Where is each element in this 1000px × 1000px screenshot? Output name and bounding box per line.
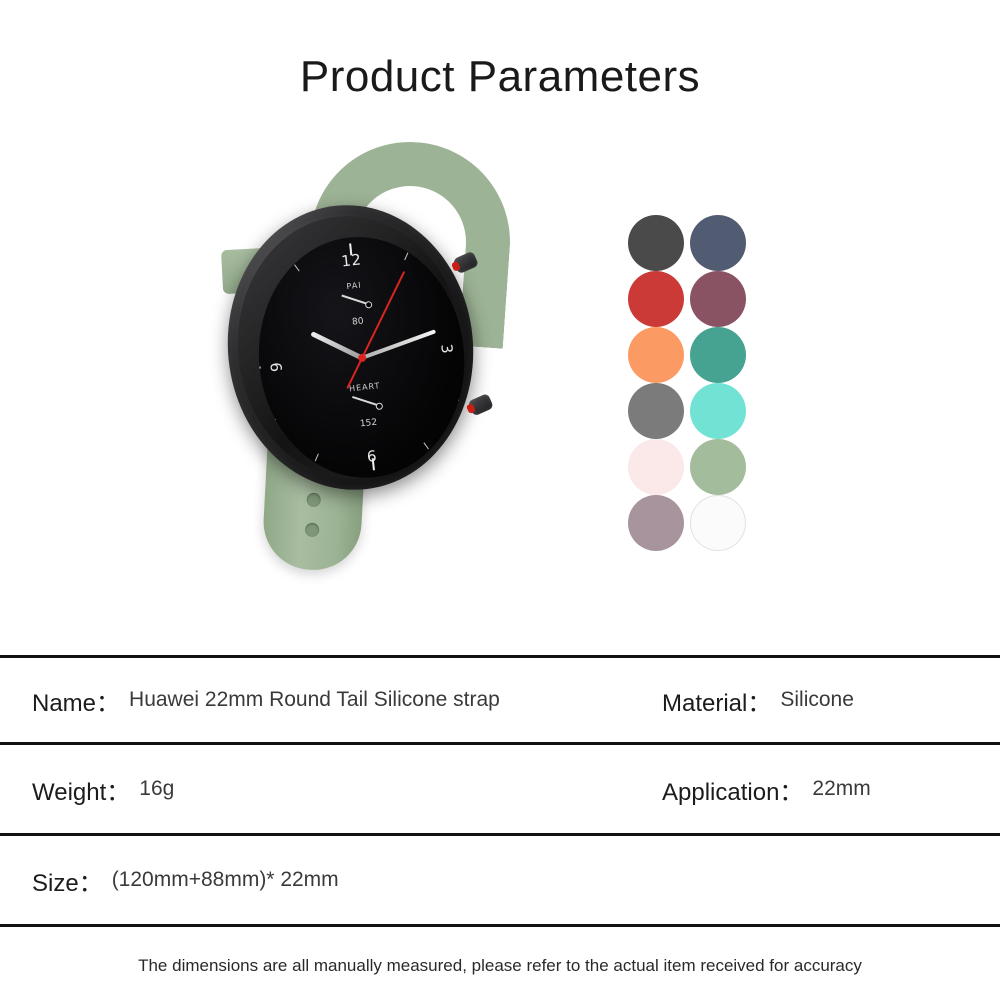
strap-hole bbox=[305, 523, 320, 538]
specification-table: Name： Huawei 22mm Round Tail Silicone st… bbox=[0, 655, 1000, 1000]
spec-value-weight: 16g bbox=[139, 777, 174, 801]
tick-mark bbox=[463, 344, 475, 347]
smartwatch: 12 3 6 9 PAI 80 HEART 152 bbox=[228, 205, 488, 495]
watch-numeral-3: 3 bbox=[437, 343, 456, 355]
color-swatch-orange[interactable] bbox=[628, 327, 684, 383]
tick-mark bbox=[249, 367, 261, 370]
spec-value-name: Huawei 22mm Round Tail Silicone strap bbox=[129, 688, 500, 712]
color-swatch-red[interactable] bbox=[628, 271, 684, 327]
table-row-weight-application: Weight： 16g Application： 22mm bbox=[0, 745, 1000, 833]
spec-value-application: 22mm bbox=[812, 777, 870, 801]
spec-cell-weight: Weight： 16g bbox=[0, 745, 630, 833]
crown-red-accent bbox=[466, 403, 476, 414]
tick-mark bbox=[269, 419, 276, 425]
color-swatch-pale-pink[interactable] bbox=[628, 439, 684, 495]
spec-label-material: Material： bbox=[662, 683, 771, 718]
watch-numeral-12: 12 bbox=[340, 250, 362, 270]
watch-numeral-9: 9 bbox=[267, 360, 286, 372]
product-parameters-page: Product Parameters bbox=[0, 0, 1000, 1000]
page-title: Product Parameters bbox=[0, 52, 1000, 102]
color-swatch-navy-slate[interactable] bbox=[690, 215, 746, 271]
color-swatch-aqua[interactable] bbox=[690, 383, 746, 439]
product-hero-image: 12 3 6 9 PAI 80 HEART 152 bbox=[0, 120, 1000, 650]
color-swatch-gray[interactable] bbox=[628, 383, 684, 439]
watch-bezel: 12 3 6 9 PAI 80 HEART 152 bbox=[225, 205, 476, 490]
spec-label-weight: Weight： bbox=[32, 772, 130, 807]
watch-face: 12 3 6 9 PAI 80 HEART 152 bbox=[247, 227, 476, 488]
color-swatch-white[interactable] bbox=[690, 495, 746, 551]
table-row-name-material: Name： Huawei 22mm Round Tail Silicone st… bbox=[0, 658, 1000, 742]
color-swatch-sage-green[interactable] bbox=[690, 439, 746, 495]
crown-button-bottom bbox=[467, 393, 494, 417]
pai-subdial-hand bbox=[341, 295, 370, 306]
tick-mark bbox=[423, 442, 429, 449]
heart-subdial-label: HEART bbox=[349, 381, 381, 393]
pai-subdial-value: 80 bbox=[352, 317, 364, 328]
spec-label-name: Name： bbox=[32, 683, 120, 718]
heart-subdial-value: 152 bbox=[359, 418, 377, 430]
crown-button-top bbox=[452, 251, 479, 275]
watch-case: 12 3 6 9 PAI 80 HEART 152 bbox=[214, 193, 487, 502]
tick-mark bbox=[294, 264, 300, 271]
color-swatch-plum[interactable] bbox=[690, 271, 746, 327]
hands-center-cap bbox=[357, 353, 366, 362]
color-swatch-teal[interactable] bbox=[690, 327, 746, 383]
spec-value-size: (120mm+88mm)* 22mm bbox=[112, 868, 339, 892]
tick-mark bbox=[404, 253, 408, 261]
disclaimer-note: The dimensions are all manually measured… bbox=[0, 927, 1000, 1000]
table-row-size: Size： (120mm+88mm)* 22mm bbox=[0, 836, 1000, 924]
color-swatch-charcoal[interactable] bbox=[628, 215, 684, 271]
spec-label-size: Size： bbox=[32, 863, 103, 898]
spec-cell-application: Application： 22mm bbox=[630, 745, 1000, 833]
tick-mark bbox=[458, 400, 466, 404]
heart-subdial-hand bbox=[352, 396, 381, 407]
crown-red-accent bbox=[451, 261, 461, 272]
spec-cell-size: Size： (120mm+88mm)* 22mm bbox=[0, 836, 630, 924]
pai-subdial-label: PAI bbox=[346, 281, 362, 292]
spec-label-application: Application： bbox=[662, 772, 803, 807]
spec-cell-material: Material： Silicone bbox=[630, 658, 1000, 742]
spec-cell-empty bbox=[630, 836, 1000, 924]
tick-mark bbox=[447, 289, 454, 295]
tick-mark bbox=[315, 454, 319, 462]
hour-hand bbox=[310, 331, 363, 360]
spec-cell-name: Name： Huawei 22mm Round Tail Silicone st… bbox=[0, 658, 630, 742]
tick-mark bbox=[257, 310, 265, 314]
color-swatch-mauve[interactable] bbox=[628, 495, 684, 551]
watch-numeral-6: 6 bbox=[366, 447, 378, 466]
color-swatch-grid bbox=[628, 215, 746, 551]
spec-value-material: Silicone bbox=[780, 688, 854, 712]
